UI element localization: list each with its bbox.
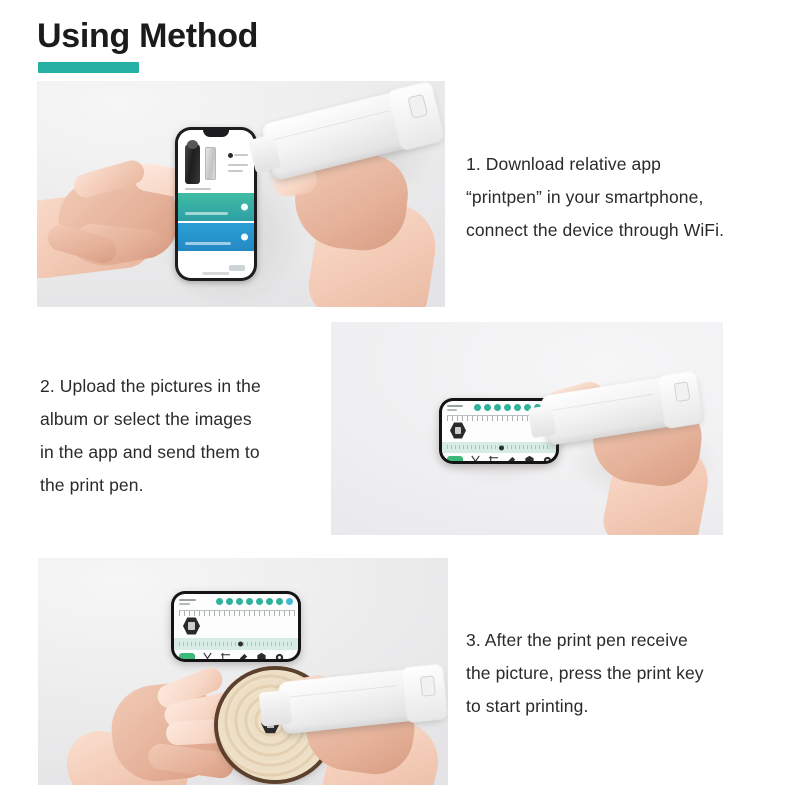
step-3-line-1: 3. After the print pen receive [466,624,781,657]
ruler-guide [179,610,295,616]
color-dot[interactable] [246,598,253,605]
pen-button-slot[interactable] [674,381,691,402]
step-1-line-3: connect the device through WiFi. [466,214,786,247]
step-1-line-1: 1. Download relative app [466,148,786,181]
step-2-line-4: the print pen. [40,469,335,502]
hexagon-icon[interactable] [524,455,535,461]
banner-text-line [185,242,231,245]
pen-seam [550,394,653,411]
hexagon-artwork-icon[interactable] [450,422,466,439]
app-banner-row-blue[interactable] [178,223,254,251]
crop-icon[interactable] [220,652,231,659]
product-image-grey [205,147,216,180]
timeline-knob[interactable] [499,445,504,450]
app-title-line [447,405,463,407]
color-dot[interactable] [484,404,491,411]
timeline-knob[interactable] [238,642,243,647]
step-2-line-2: album or select the images [40,403,335,436]
phone-screen[interactable] [178,130,254,278]
hero-text-line [228,170,243,172]
step-3-line-2: the picture, press the print key [466,657,781,690]
hexagon-artwork-icon[interactable] [183,617,200,635]
editor-toolbar[interactable] [179,652,298,659]
hexagon-icon[interactable] [256,652,267,659]
step-1-text: 1. Download relative app “printpen” in y… [466,148,786,247]
color-dot[interactable] [504,404,511,411]
app-subtitle-line [179,603,190,605]
cut-icon[interactable] [470,455,481,461]
color-dot[interactable] [256,598,263,605]
color-dot[interactable] [236,598,243,605]
hero-text-line [234,154,248,156]
step-2-text: 2. Upload the pictures in the album or s… [40,370,335,502]
photo-pointing-at-phone-app [37,81,445,307]
app-product-hero [178,139,254,191]
step-3-text: 3. After the print pen receive the pictu… [466,624,781,723]
battery-chip-icon[interactable] [179,653,195,659]
product-image-dark [185,144,200,184]
crop-icon[interactable] [488,455,499,461]
smartphone-portrait[interactable] [175,127,257,281]
banner-toggle-dot[interactable] [241,204,248,211]
battery-chip-icon[interactable] [447,456,463,461]
timeline-strip[interactable] [442,442,556,453]
editor-toolbar[interactable] [447,455,556,461]
app-subtitle-line [447,409,457,411]
pen-button-slot[interactable] [420,675,436,696]
bullet-dot-icon [228,153,233,158]
color-dot[interactable] [474,404,481,411]
page-title: Using Method [37,14,258,58]
pen-nose [259,690,292,727]
step-3-line-3: to start printing. [466,690,781,723]
cut-icon[interactable] [202,652,213,659]
print-icon[interactable] [292,652,298,659]
banner-toggle-dot[interactable] [241,234,248,241]
step-2-line-1: 2. Upload the pictures in the [40,370,335,403]
color-dot[interactable] [286,598,293,605]
settings-gear-icon[interactable] [542,455,553,461]
hero-text-line [228,164,248,166]
color-dot[interactable] [216,598,223,605]
title-accent-rule [38,62,139,73]
banner-text-line [185,212,228,215]
color-dot[interactable] [226,598,233,605]
step-1-line-2: “printpen” in your smartphone, [466,181,786,214]
phone-notch [203,130,229,137]
smartphone-landscape[interactable] [171,591,301,662]
color-dot[interactable] [494,404,501,411]
app-banner-row-teal[interactable] [178,193,254,221]
photo-printing-on-wood [38,558,448,785]
phone-screen[interactable] [174,594,298,659]
color-dot[interactable] [514,404,521,411]
photo-phone-sending-image [331,322,723,535]
home-indicator [202,272,229,275]
color-dot-row[interactable] [216,598,293,605]
app-footer-logo [229,265,245,271]
timeline-strip[interactable] [174,638,298,650]
settings-gear-icon[interactable] [274,652,285,659]
color-dot[interactable] [276,598,283,605]
paint-icon[interactable] [506,455,517,461]
hero-text-line [185,188,211,190]
app-title-line [179,599,196,601]
page-root: Using Method [0,0,800,800]
paint-icon[interactable] [238,652,249,659]
color-dot[interactable] [266,598,273,605]
pen-seam [287,685,397,697]
step-2-line-3: in the app and send them to [40,436,335,469]
pen-nose [528,405,556,438]
